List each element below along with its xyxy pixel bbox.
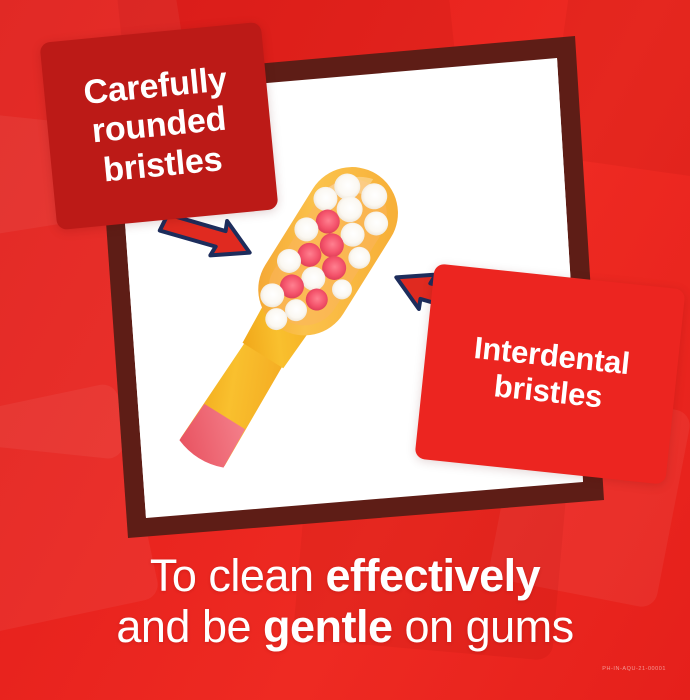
callout-interdental-label: Interdental bristles (469, 330, 632, 418)
interdental-bristles-callout: Interdental bristles (414, 263, 685, 484)
carefully-rounded-bristles-callout: Carefully rounded bristles (40, 22, 279, 230)
headline-line2-regular-b: on gums (393, 601, 574, 652)
headline: To clean effectively and be gentle on gu… (0, 551, 690, 652)
callout-rounded-label: Carefully rounded bristles (82, 60, 236, 192)
legal-code: PH-IN-AQU-21-00001 (602, 666, 666, 672)
headline-line2-regular-a: and be (116, 601, 263, 652)
marketing-image: Carefully rounded bristles Interdental b… (0, 0, 690, 700)
headline-line-2: and be gentle on gums (0, 602, 690, 652)
headline-line2-bold: gentle (263, 601, 393, 652)
headline-line1-bold: effectively (326, 550, 541, 601)
headline-line-1: To clean effectively (0, 551, 690, 601)
headline-line1-regular: To clean (150, 550, 326, 601)
